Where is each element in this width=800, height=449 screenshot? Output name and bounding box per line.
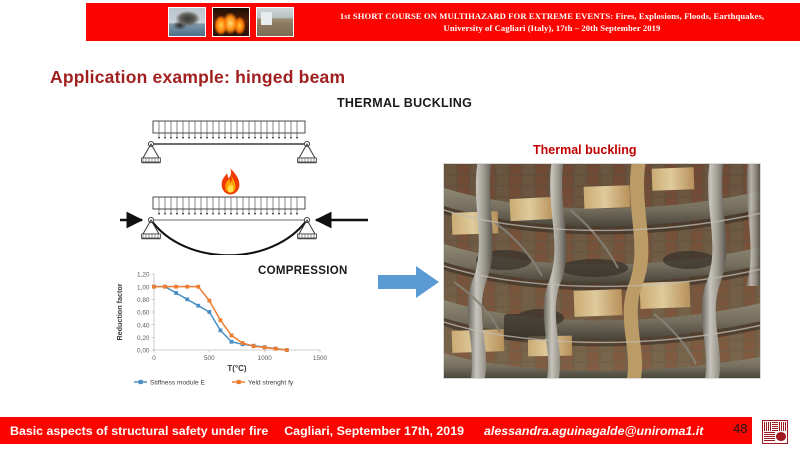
sapienza-logo xyxy=(762,420,788,444)
series-marker-1 xyxy=(152,285,156,289)
header-banner: 1st SHORT COURSE ON MULTIHAZARD FOR EXTR… xyxy=(86,3,800,41)
logo-cell xyxy=(764,432,775,441)
series-marker-0 xyxy=(196,304,200,308)
footer-place-date: Cagliari, September 17th, 2019 xyxy=(284,424,464,438)
x-tick-label: 0 xyxy=(152,355,156,362)
y-axis-label: Reduction factor xyxy=(115,283,124,340)
footer-course-title: Basic aspects of structural safety under… xyxy=(10,424,268,438)
y-tick-label: 0,20 xyxy=(137,335,150,342)
logo-cell xyxy=(776,432,787,441)
x-tick-label: 1000 xyxy=(258,355,273,362)
series-marker-0 xyxy=(219,328,223,332)
legend-label-0: Stiffness module E xyxy=(150,380,205,387)
reduction-factor-chart: 0,000,200,400,600,801,001,20050010001500… xyxy=(112,264,327,400)
series-marker-1 xyxy=(207,299,211,303)
logo-cell xyxy=(779,422,786,431)
thermal-buckling-heading: THERMAL BUCKLING xyxy=(337,96,472,110)
y-tick-label: 1,20 xyxy=(137,272,150,279)
page-title: Application example: hinged beam xyxy=(50,67,345,88)
legend-label-1: Yeld strenght fy xyxy=(248,380,294,387)
series-marker-1 xyxy=(263,346,267,350)
presentation-slide: 1st SHORT COURSE ON MULTIHAZARD FOR EXTR… xyxy=(0,0,800,449)
flood-thumbnail xyxy=(256,7,294,37)
top-beam-diagram xyxy=(142,121,317,163)
x-tick-label: 500 xyxy=(204,355,215,362)
series-marker-1 xyxy=(230,334,234,338)
legend-marker-0 xyxy=(139,380,143,384)
beam-diagram-svg xyxy=(120,115,370,255)
photo-caption: Thermal buckling xyxy=(533,143,637,157)
y-tick-label: 1,00 xyxy=(137,284,150,291)
series-marker-1 xyxy=(163,285,167,289)
header-title-line-2: University of Cagliari (Italy), 17th – 2… xyxy=(312,22,792,34)
series-marker-0 xyxy=(230,340,234,344)
series-marker-1 xyxy=(274,347,278,351)
footer-banner: Basic aspects of structural safety under… xyxy=(0,417,752,444)
y-tick-label: 0,40 xyxy=(137,322,150,329)
series-marker-0 xyxy=(174,291,178,295)
series-marker-1 xyxy=(285,348,289,352)
series-marker-1 xyxy=(174,285,178,289)
legend-marker-1 xyxy=(237,380,241,384)
chart-canvas: 0,000,200,400,600,801,001,20050010001500… xyxy=(112,264,327,400)
series-marker-1 xyxy=(241,341,245,345)
header-course-title: 1st SHORT COURSE ON MULTIHAZARD FOR EXTR… xyxy=(294,10,800,34)
thermal-buckling-photo xyxy=(443,163,761,379)
y-tick-label: 0,60 xyxy=(137,310,150,317)
header-thumbnail-strip xyxy=(168,7,294,37)
y-tick-label: 0,80 xyxy=(137,297,150,304)
slide-number: 48 xyxy=(733,421,747,436)
series-marker-1 xyxy=(185,285,189,289)
series-marker-1 xyxy=(219,318,223,322)
bottom-beam-diagram xyxy=(120,197,368,255)
logo-cell xyxy=(764,422,771,431)
y-tick-label: 0,00 xyxy=(137,348,150,355)
header-title-line-1: 1st SHORT COURSE ON MULTIHAZARD FOR EXTR… xyxy=(312,10,792,22)
footer-email: alessandra.aguinagalde@uniroma1.it xyxy=(484,424,703,438)
x-tick-label: 1500 xyxy=(313,355,327,362)
series-marker-0 xyxy=(185,297,189,301)
logo-cell xyxy=(772,422,779,431)
beam-diagram-group xyxy=(120,115,370,255)
series-marker-1 xyxy=(252,344,256,348)
series-marker-0 xyxy=(207,310,211,314)
x-axis-label: T(°C) xyxy=(227,364,247,373)
fire-thumbnail xyxy=(212,7,250,37)
flow-arrow-icon xyxy=(378,265,440,299)
flame-icon xyxy=(222,168,240,195)
explosion-thumbnail xyxy=(168,7,206,37)
series-marker-1 xyxy=(196,285,200,289)
